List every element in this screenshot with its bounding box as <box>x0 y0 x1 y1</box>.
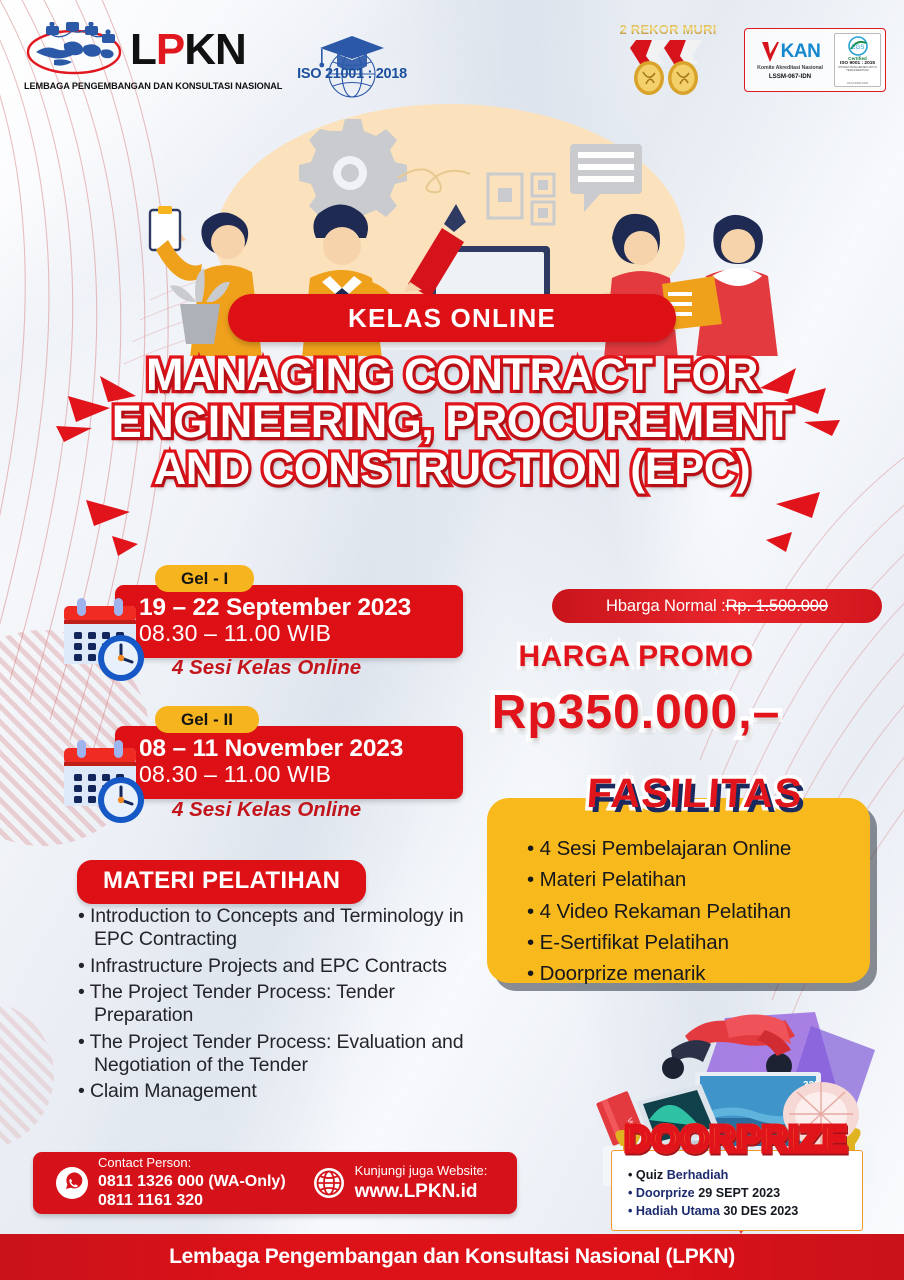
lpkn-map-icon <box>24 22 124 78</box>
contact-phone-1[interactable]: 0811 1326 000 (WA-Only) <box>98 1172 286 1192</box>
price-normal-label: Hbarga Normal : <box>606 597 726 616</box>
fasilitas-item: • 4 Sesi Pembelajaran Online <box>527 833 870 864</box>
poster-title: MANAGING CONTRACT FOR ENGINEERING, PROCU… <box>0 352 904 492</box>
fasilitas-card: • 4 Sesi Pembelajaran Online • Materi Pe… <box>487 798 870 983</box>
kelas-online-banner: KELAS ONLINE <box>228 294 676 342</box>
doorprize-item-label: • Doorprize <box>628 1186 698 1200</box>
kan-accreditation-badge: KAN Komite Akreditasi Nasional LSSM-067-… <box>744 28 886 92</box>
price-normal-value: Rp. 1.500.000 <box>726 597 828 616</box>
materi-item: • Introduction to Concepts and Terminolo… <box>78 905 478 951</box>
materi-item: • Infrastructure Projects and EPC Contra… <box>78 955 478 978</box>
muri-medals-icon <box>608 38 728 100</box>
fasilitas-title: FASILITAS <box>586 770 805 817</box>
doorprize-item: • Quiz Berhadiah <box>628 1167 852 1185</box>
price-normal-pill: Hbarga Normal : Rp. 1.500.000 <box>552 589 882 623</box>
materi-pelatihan-title: MATERI PELATIHAN <box>77 860 366 904</box>
contact-bar: Contact Person: 0811 1326 000 (WA-Only) … <box>33 1152 517 1214</box>
lpkn-letter-l: L <box>130 25 156 74</box>
chat-bubble-icon <box>570 144 642 212</box>
fasilitas-item: • Doorprize menarik <box>527 958 870 989</box>
website-url[interactable]: www.LPKN.id <box>355 1180 488 1203</box>
doorprize-item-label: • Quiz <box>628 1168 667 1182</box>
globe-icon <box>312 1166 346 1200</box>
promo-price-value: Rp350.000,– <box>492 686 781 739</box>
muri-title: 2 REKOR MURI <box>608 22 728 37</box>
doorprize-item-value: Berhadiah <box>667 1168 729 1182</box>
website-label: Kunjungi juga Website: <box>355 1163 488 1179</box>
fasilitas-item: • E-Sertifikat Pelatihan <box>527 927 870 958</box>
title-line-3: AND CONSTRUCTION (EPC) <box>0 446 904 493</box>
footer-text: Lembaga Pengembangan dan Konsultasi Nasi… <box>169 1245 735 1269</box>
kan-subtitle: Komite Akreditasi Nasional <box>749 66 831 72</box>
contact-phone-2[interactable]: 0811 1161 320 <box>98 1191 286 1211</box>
doorprize-item-value: 29 SEPT 2023 <box>698 1186 780 1200</box>
gel-1-date: 19 – 22 September 2023 <box>139 595 445 621</box>
doorprize-graphic: 32" Voucher <box>575 1010 895 1242</box>
kan-code: LSSM-067-IDN <box>749 74 831 81</box>
promo-price-wrap: Rp350.000,– <box>0 685 904 740</box>
lpkn-subtitle: LEMBAGA PENGEMBANGAN DAN KONSULTASI NASI… <box>24 81 274 91</box>
kan-check-icon <box>760 40 780 64</box>
materi-item: • The Project Tender Process: Evaluation… <box>78 1031 478 1077</box>
gel-1-badge: Gel - I <box>155 565 254 592</box>
gel-2-badge: Gel - II <box>155 706 259 733</box>
title-line-2: ENGINEERING, PROCUREMENT <box>0 399 904 446</box>
title-line-1: MANAGING CONTRACT FOR <box>0 352 904 399</box>
doorprize-item-label: • Hadiah Utama <box>628 1204 723 1218</box>
materi-item: • The Project Tender Process: Tender Pre… <box>78 981 478 1027</box>
iso-caption: ISO 21001 : 2018 <box>292 66 412 82</box>
contact-person-label: Contact Person: <box>98 1155 286 1171</box>
contact-whatsapp-group[interactable]: Contact Person: 0811 1326 000 (WA-Only) … <box>55 1155 286 1210</box>
egs-note: SISTEM MANAJEMEN MUTU TERAKREDITASI <box>836 66 880 73</box>
poster-root: LPKN LEMBAGA PENGEMBANGAN DAN KONSULTASI… <box>0 0 904 1280</box>
kan-wordmark: KAN <box>781 42 821 62</box>
materi-pelatihan-list: • Introduction to Concepts and Terminolo… <box>78 905 478 1107</box>
stripe-circle-left-2 <box>0 1000 54 1150</box>
iso-21001-logo: ISO 21001 : 2018 <box>292 26 412 106</box>
harga-promo-label: HARGA PROMO <box>519 640 754 673</box>
svg-text:EGS: EGS <box>851 45 864 51</box>
lpkn-letters-kn: KN <box>184 25 246 74</box>
doorprize-wordmark-wrap: DOORPRIZE <box>597 1118 875 1160</box>
doorprize-wordmark: DOORPRIZE <box>624 1118 847 1159</box>
harga-promo-label-wrap: HARGA PROMO <box>0 640 904 674</box>
doorprize-item: • Hadiah Utama 30 DES 2023 <box>628 1203 852 1221</box>
lpkn-logo: LPKN LEMBAGA PENGEMBANGAN DAN KONSULTASI… <box>24 22 274 91</box>
lpkn-wordmark: LPKN <box>130 28 246 72</box>
materi-item: • Claim Management <box>78 1080 478 1103</box>
fasilitas-item: • Materi Pelatihan <box>527 864 870 895</box>
fasilitas-title-wrap: FASILITAS <box>0 770 904 817</box>
doorprize-item-value: 30 DES 2023 <box>723 1204 798 1218</box>
footer-bar: Lembaga Pengembangan dan Konsultasi Nasi… <box>0 1234 904 1280</box>
rekor-muri-badge: 2 REKOR MURI <box>608 22 728 105</box>
egs-swirl-icon: EGS <box>845 36 871 56</box>
person-farright <box>662 215 778 356</box>
doorprize-item: • Doorprize 29 SEPT 2023 <box>628 1185 852 1203</box>
egs-certification-badge: EGS Certified ISO 9001 : 2015 SISTEM MAN… <box>834 33 881 87</box>
fasilitas-item: • 4 Video Rekaman Pelatihan <box>527 896 870 927</box>
egs-code: 0123-69621309 <box>847 81 868 85</box>
contact-website-group[interactable]: Kunjungi juga Website: www.LPKN.id <box>312 1163 488 1202</box>
lpkn-letter-p: P <box>156 25 184 74</box>
whatsapp-icon <box>55 1166 89 1200</box>
doorprize-info-card: • Quiz Berhadiah • Doorprize 29 SEPT 202… <box>611 1150 863 1231</box>
